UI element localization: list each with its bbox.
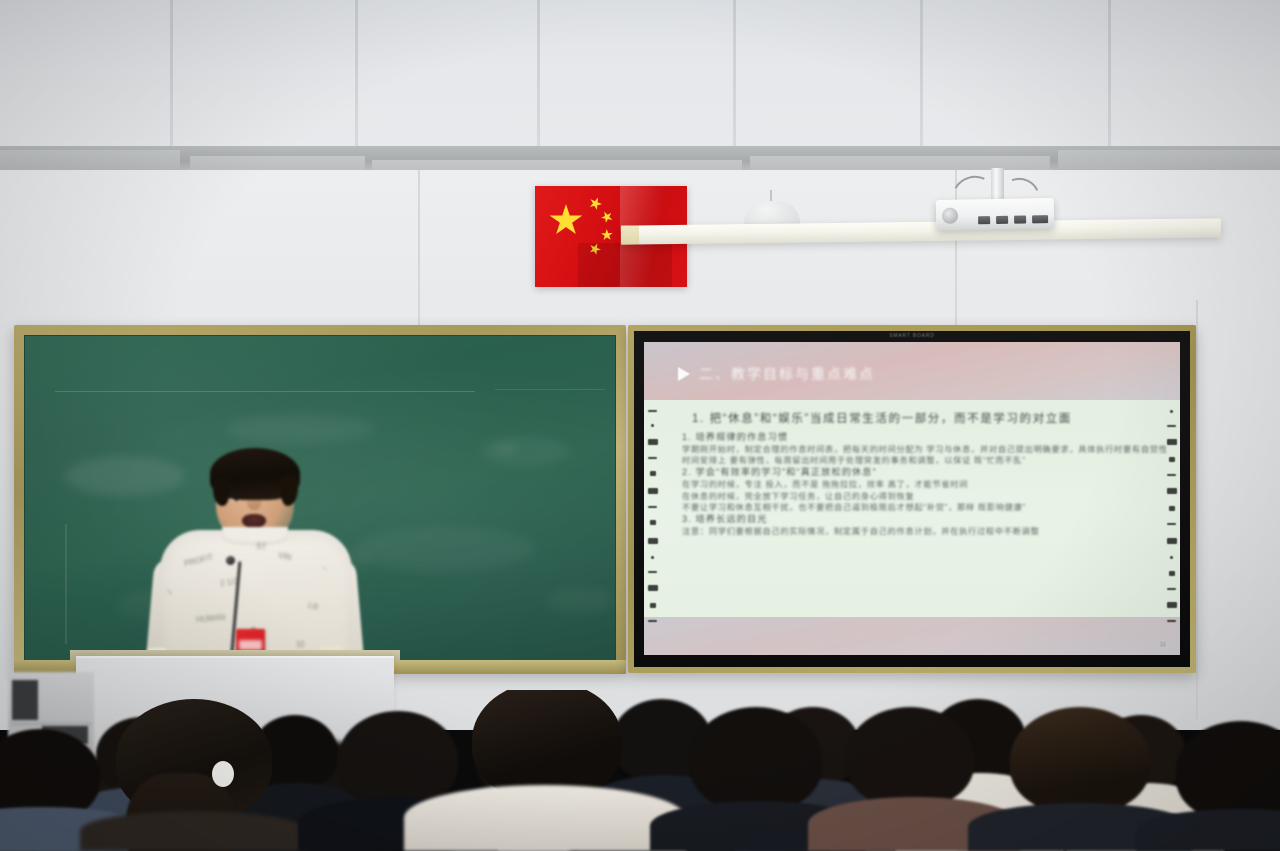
dot-icon[interactable] [1170,410,1173,413]
close-icon[interactable] [650,603,656,608]
undo-icon[interactable] [648,506,657,508]
shape-icon[interactable] [1169,457,1175,462]
presenter-mouth [242,514,266,528]
undo-icon[interactable] [1169,506,1175,511]
flag-small-star [587,195,604,212]
slide-line: 学期刚开始时，制定合理的作息时间表，把每天的时间分配为 学习与休息，并对自己提出… [682,446,1140,454]
redo-icon[interactable] [650,520,656,525]
annotation-toolbar-left[interactable] [646,408,659,624]
close-icon[interactable] [1167,602,1177,608]
eraser-icon[interactable] [1167,439,1177,445]
slide-line: 1. 培养规律的作息习惯 [682,433,1140,442]
ceiling-projector [936,198,1055,230]
slide-body: 1. 把“休息”和“娱乐”当成日常生活的一部分，而不是学习的对立面 1. 培养规… [644,400,1180,617]
chevron-right-icon [678,367,690,381]
classroom-scene: SMART BOARD 二、教学目标与重点难点 1. 把“休息”和“娱乐”当成日… [0,0,1280,851]
select-icon[interactable] [1167,488,1177,494]
line-icon[interactable] [648,457,657,459]
dot-icon[interactable] [651,424,654,427]
slide-page-number: 11 [1160,642,1166,648]
clear-icon[interactable] [1169,571,1175,576]
annotation-toolbar-right[interactable] [1165,408,1178,624]
flag-small-star [599,209,616,226]
more-icon[interactable] [1167,588,1176,590]
redo-icon[interactable] [1167,523,1176,525]
select-icon[interactable] [648,488,658,494]
flag-small-star [599,227,614,242]
color-icon[interactable] [1170,556,1173,559]
display-brand-label: SMART BOARD [889,333,934,339]
slide-title: 二、教学目标与重点难点 [699,364,875,384]
pen-icon[interactable] [1167,425,1176,427]
pen-icon[interactable] [648,410,657,412]
color-icon[interactable] [651,556,654,559]
slide-line: 2. 学会“有效率的学习”和“真正放松的休息” [682,468,1140,477]
slide-line: 1. 把“休息”和“娱乐”当成日常生活的一部分，而不是学习的对立面 [692,414,1140,426]
line-icon[interactable] [1167,474,1176,476]
flag-large-star [549,204,583,237]
drag-handle-icon[interactable] [648,620,657,622]
microphone-icon [226,556,235,565]
slide-header: 二、教学目标与重点难点 [644,342,1180,400]
save-icon[interactable] [1167,538,1177,544]
slide-line: 在学习的时候，专注 投入，而不是 拖拖拉拉，效率 高了，才能节省时间 [682,481,1140,489]
slide-line: 在休息的时候，完全放下学习任务，让自己的身心得到恢复 [682,493,1140,501]
clear-icon[interactable] [648,571,657,573]
projector-lens-icon [942,208,958,224]
slide-line: 注意：同学们要根据自己的实际情况，制定属于自己的作息计划，并在执行过程中不断调整 [682,528,1140,536]
eraser-icon[interactable] [648,439,658,445]
smart-interactive-display[interactable]: SMART BOARD 二、教学目标与重点难点 1. 把“休息”和“娱乐”当成日… [628,325,1196,673]
slide-line: 不要让学习和休息互相干扰，也不要把自己逼到极限后才想起“补觉”，那样 既影响健康… [682,504,1140,512]
more-icon[interactable] [648,585,658,591]
drag-handle-icon[interactable] [1167,620,1176,622]
seated-students [0,690,1280,851]
display-screen[interactable]: 二、教学目标与重点难点 1. 把“休息”和“娱乐”当成日常生活的一部分，而不是学… [644,342,1180,655]
shape-icon[interactable] [650,471,656,476]
presenter-hair [210,448,300,500]
slide-footer: 11 [644,617,1180,655]
slide-line: 时间安排上 要有弹性，每周留出时间用于处理突发的事务和调整，以保证 既“忙而不乱… [682,457,1140,465]
save-icon[interactable] [648,538,658,544]
slide-line: 3. 培养长远的目光 [682,515,1140,524]
